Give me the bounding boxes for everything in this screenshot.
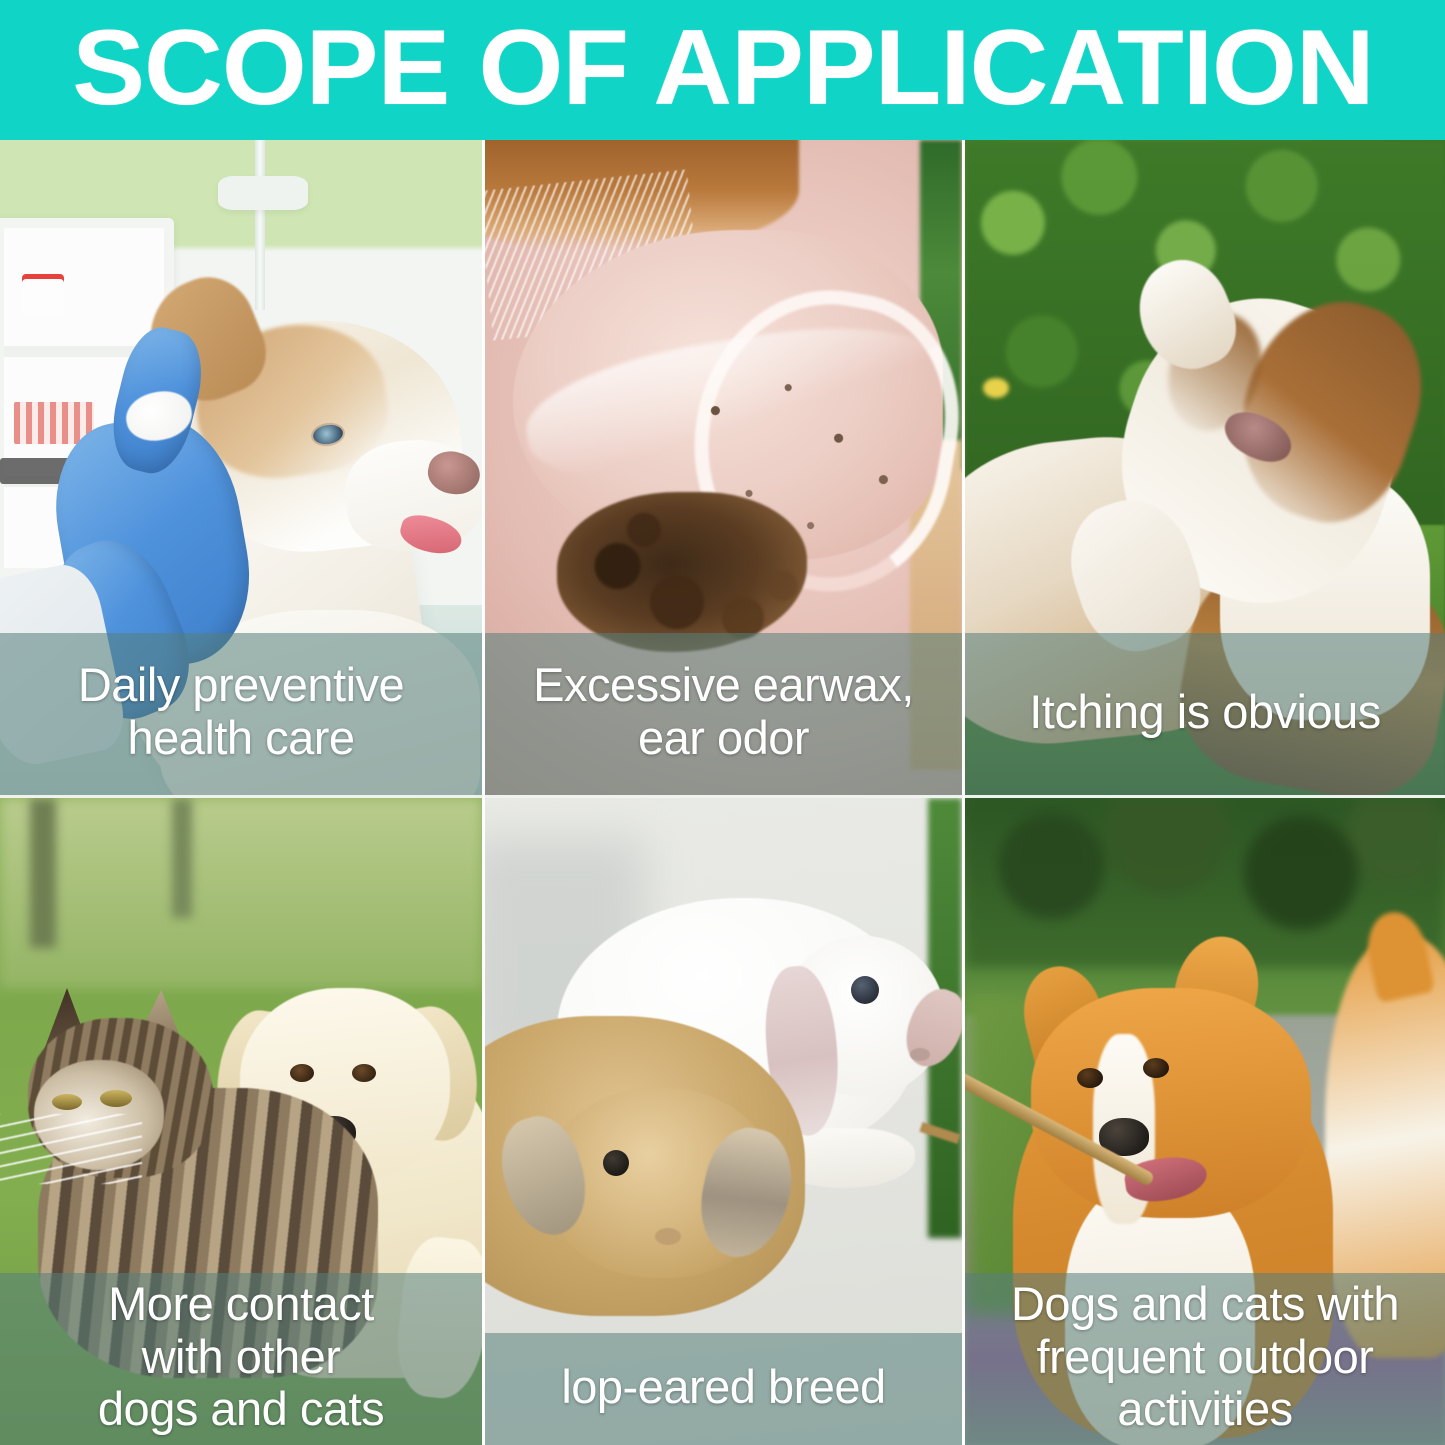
application-grid: Daily preventive health care [0,140,1445,1445]
caption-line: ear odor [533,712,914,765]
caption-line: Itching is obvious [1029,686,1381,739]
caption-line: activities [1011,1383,1399,1436]
caption-line: frequent outdoor [1011,1331,1399,1384]
infographic-root: SCOPE OF APPLICATION [0,0,1445,1445]
grid-cell-excessive-earwax-ear-odor: Excessive earwax, ear odor [485,140,965,795]
page-title: SCOPE OF APPLICATION [72,14,1373,127]
caption-daily-preventive-health-care: Daily preventive health care [0,633,482,795]
caption-dogs-and-cats-with-frequent-outdoor-activities: Dogs and cats with frequent outdoor acti… [965,1273,1445,1445]
caption-itching-is-obvious: Itching is obvious [965,633,1445,795]
caption-line: with other [98,1331,384,1384]
caption-line: More contact [98,1278,384,1331]
header-banner: SCOPE OF APPLICATION [0,0,1445,140]
caption-line: lop-eared breed [561,1361,885,1414]
caption-line: dogs and cats [98,1383,384,1436]
grid-cell-dogs-and-cats-with-frequent-outdoor-activities: Dogs and cats with frequent outdoor acti… [965,795,1445,1445]
caption-line: Dogs and cats with [1011,1278,1399,1331]
grid-cell-itching-is-obvious: Itching is obvious [965,140,1445,795]
caption-excessive-earwax-ear-odor: Excessive earwax, ear odor [485,633,962,795]
grid-cell-daily-preventive-health-care: Daily preventive health care [0,140,485,795]
caption-more-contact-with-other-dogs-and-cats: More contact with other dogs and cats [0,1273,482,1445]
caption-line: Excessive earwax, [533,659,914,712]
grid-cell-lop-eared-breed: lop-eared breed [485,795,965,1445]
caption-line: health care [78,712,404,765]
grid-cell-more-contact-with-other-dogs-and-cats: More contact with other dogs and cats [0,795,485,1445]
caption-line: Daily preventive [78,659,404,712]
caption-lop-eared-breed: lop-eared breed [485,1333,962,1445]
